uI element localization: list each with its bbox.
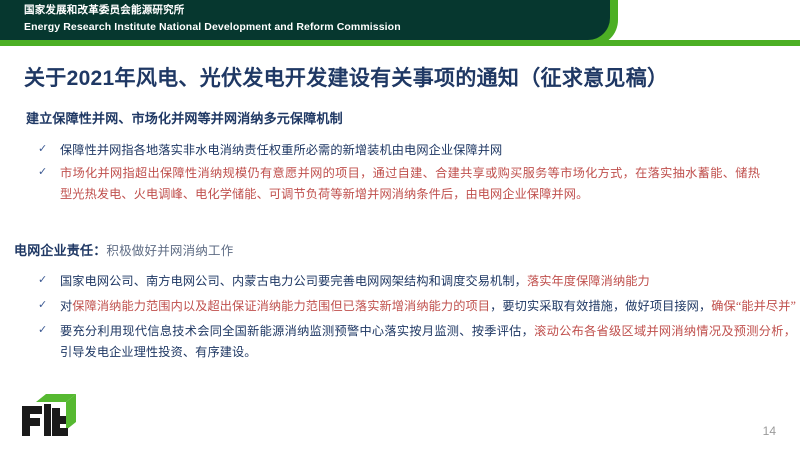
logo-mark-stem — [44, 404, 51, 436]
list-item: ✓ 国家电网公司、南方电网公司、内蒙古电力公司要完善电网网架结构和调度交易机制，… — [14, 271, 796, 292]
check-icon: ✓ — [38, 140, 47, 159]
page-number: 14 — [763, 424, 776, 438]
section-heading-2-main: 电网企业责任： — [14, 243, 106, 258]
section-block-2: 电网企业责任：积极做好并网消纳工作 ✓ 国家电网公司、南方电网公司、内蒙古电力公… — [14, 240, 774, 363]
bullet-run: 对 — [60, 299, 72, 313]
presentation-slide: 国家发展和改革委员会能源研究所 Energy Research Institut… — [0, 0, 800, 450]
section-heading-2: 电网企业责任：积极做好并网消纳工作 — [14, 240, 774, 259]
bullet-run: 市场化并网指超出保障性消纳规模仍有意愿并网的项目，通过自建、合建共享或购买服务等… — [60, 166, 760, 201]
bullet-list-1: ✓ 保障性并网指各地落实非水电消纳责任权重所必需的新增装机由电网企业保障并网 ✓… — [26, 140, 772, 205]
check-icon: ✓ — [38, 321, 47, 340]
bullet-run-emphasis: 保障消纳能力范围内以及超出保证消纳能力范围但已落实新增消纳能力的项目 — [72, 299, 490, 313]
section-heading-1: 建立保障性并网、市场化并网等并网消纳多元保障机制 — [26, 108, 772, 127]
check-icon: ✓ — [38, 296, 47, 315]
bullet-run: 国家电网公司、南方电网公司、内蒙古电力公司要完善电网网架结构和调度交易机制， — [60, 274, 527, 288]
section-heading-2-sub: 积极做好并网消纳工作 — [106, 244, 233, 258]
list-item: ✓ 保障性并网指各地落实非水电消纳责任权重所必需的新增装机由电网企业保障并网 — [26, 140, 700, 161]
bullet-run: 要充分利用现代信息技术会同全国新能源消纳监测预警中心落实按月监测、按季评估， — [60, 324, 534, 338]
check-icon: ✓ — [38, 271, 47, 290]
logo-mark-foot — [60, 428, 68, 436]
eri-cube-logo — [16, 394, 80, 442]
logo-mark-left — [22, 406, 42, 436]
logo-graphic — [16, 394, 80, 442]
bullet-list-2: ✓ 国家电网公司、南方电网公司、内蒙古电力公司要完善电网网架结构和调度交易机制，… — [14, 271, 774, 363]
list-item: ✓ 市场化并网指超出保障性消纳规模仍有意愿并网的项目，通过自建、合建共享或购买服… — [26, 163, 760, 205]
bullet-run-emphasis: 滚动公布各省级区域并网消纳情况及预测分析， — [534, 324, 796, 338]
organization-name-en: Energy Research Institute National Devel… — [24, 21, 401, 35]
check-icon: ✓ — [38, 163, 47, 182]
organization-name-cn: 国家发展和改革委员会能源研究所 — [24, 4, 401, 18]
bullet-run: ，要切实采取有效措施，做好项目接网， — [490, 299, 711, 313]
slide-title: 关于2021年风电、光伏发电开发建设有关事项的通知（征求意见稿） — [24, 62, 780, 92]
bullet-run-emphasis: 落实年度保障消纳能力 — [527, 274, 650, 288]
bullet-run: 保障性并网指各地落实非水电消纳责任权重所必需的新增装机由电网企业保障并网 — [60, 143, 502, 157]
section-heading-1-main: 建立保障性并网、市场化并网等并网消纳多元保障机制 — [26, 111, 343, 126]
header-accent-rule — [0, 40, 800, 46]
list-item: ✓ 要充分利用现代信息技术会同全国新能源消纳监测预警中心落实按月监测、按季评估，… — [14, 321, 796, 363]
bullet-run: 引导发电企业理性投资、有序建设。 — [60, 345, 257, 359]
organization-identity: 国家发展和改革委员会能源研究所 Energy Research Institut… — [24, 4, 401, 35]
bullet-run-emphasis: 确保“能并尽并” — [711, 299, 796, 313]
slide-body: 建立保障性并网、市场化并网等并网消纳多元保障机制 ✓ 保障性并网指各地落实非水电… — [0, 108, 800, 408]
list-item: ✓ 对保障消纳能力范围内以及超出保证消纳能力范围但已落实新增消纳能力的项目，要切… — [14, 296, 796, 317]
section-block-1: 建立保障性并网、市场化并网等并网消纳多元保障机制 ✓ 保障性并网指各地落实非水电… — [26, 108, 772, 205]
